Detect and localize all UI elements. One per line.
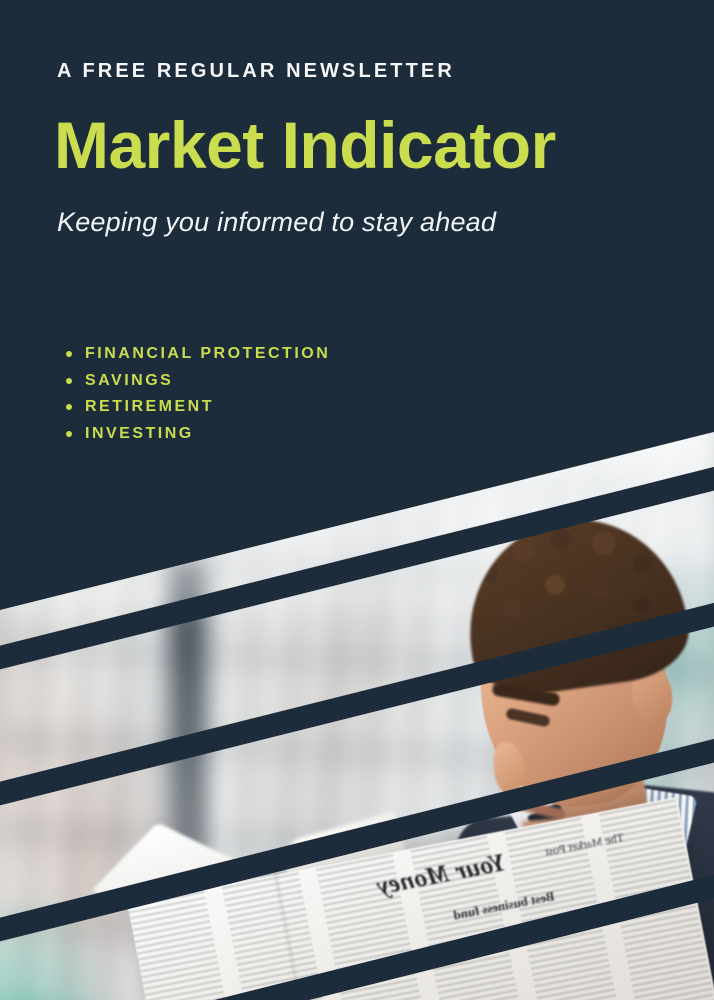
list-item: SAVINGS [66,372,330,390]
bullet-dot-icon [66,404,72,410]
subtitle-text: Keeping you informed to stay ahead [57,203,557,241]
list-item: RETIREMENT [66,398,330,416]
kicker-text: A FREE REGULAR NEWSLETTER [57,60,455,83]
list-item: FINANCIAL PROTECTION [66,345,330,363]
topic-label: FINANCIAL PROTECTION [85,345,330,363]
bullet-dot-icon [66,378,72,384]
bullet-dot-icon [66,431,72,437]
topic-list: FINANCIAL PROTECTION SAVINGS RETIREMENT … [66,345,330,451]
newsletter-cover-poster: Your Money The Market Post Best business… [0,0,714,1000]
bullet-dot-icon [66,351,72,357]
topic-label: RETIREMENT [85,398,214,416]
topic-label: SAVINGS [85,372,173,390]
page-title: Market Indicator [54,112,556,178]
topic-label: INVESTING [85,425,194,443]
list-item: INVESTING [66,425,330,443]
